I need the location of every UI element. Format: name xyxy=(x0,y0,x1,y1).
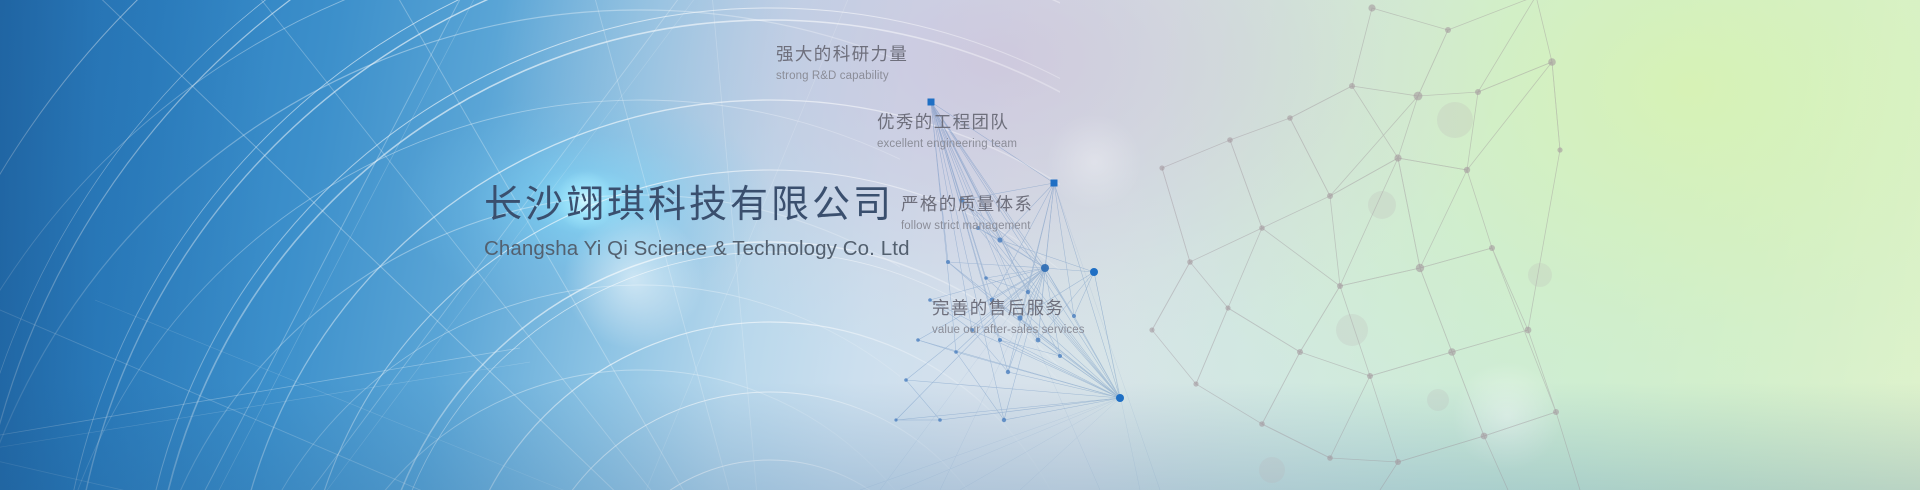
feature-label-service-en: value our after-sales services xyxy=(932,324,1085,336)
feature-label-team: 优秀的工程团队 excellent engineering team xyxy=(877,112,1017,150)
network-hub-node xyxy=(1041,264,1049,272)
feature-anchor-node-3 xyxy=(1116,394,1124,402)
feature-label-quality-cn: 严格的质量体系 xyxy=(901,194,1033,216)
feature-anchor-node-1 xyxy=(1051,180,1058,187)
feature-anchor-node-0 xyxy=(928,99,935,106)
feature-label-rd-en: strong R&D capability xyxy=(776,70,908,82)
feature-label-rd: 强大的科研力量 strong R&D capability xyxy=(776,44,908,82)
feature-label-rd-cn: 强大的科研力量 xyxy=(776,44,908,66)
company-name-english: Changsha Yi Qi Science & Technology Co. … xyxy=(484,237,1004,261)
feature-label-quality-en: follow strict management xyxy=(901,220,1033,232)
feature-label-team-cn: 优秀的工程团队 xyxy=(877,112,1017,134)
feature-label-service: 完善的售后服务 value our after-sales services xyxy=(932,298,1085,336)
feature-label-service-cn: 完善的售后服务 xyxy=(932,298,1085,320)
feature-label-quality: 严格的质量体系 follow strict management xyxy=(901,194,1033,232)
hero-banner: 长沙翊琪科技有限公司 Changsha Yi Qi Science & Tech… xyxy=(0,0,1920,490)
feature-anchor-node-2 xyxy=(1090,268,1098,276)
feature-label-team-en: excellent engineering team xyxy=(877,138,1017,150)
